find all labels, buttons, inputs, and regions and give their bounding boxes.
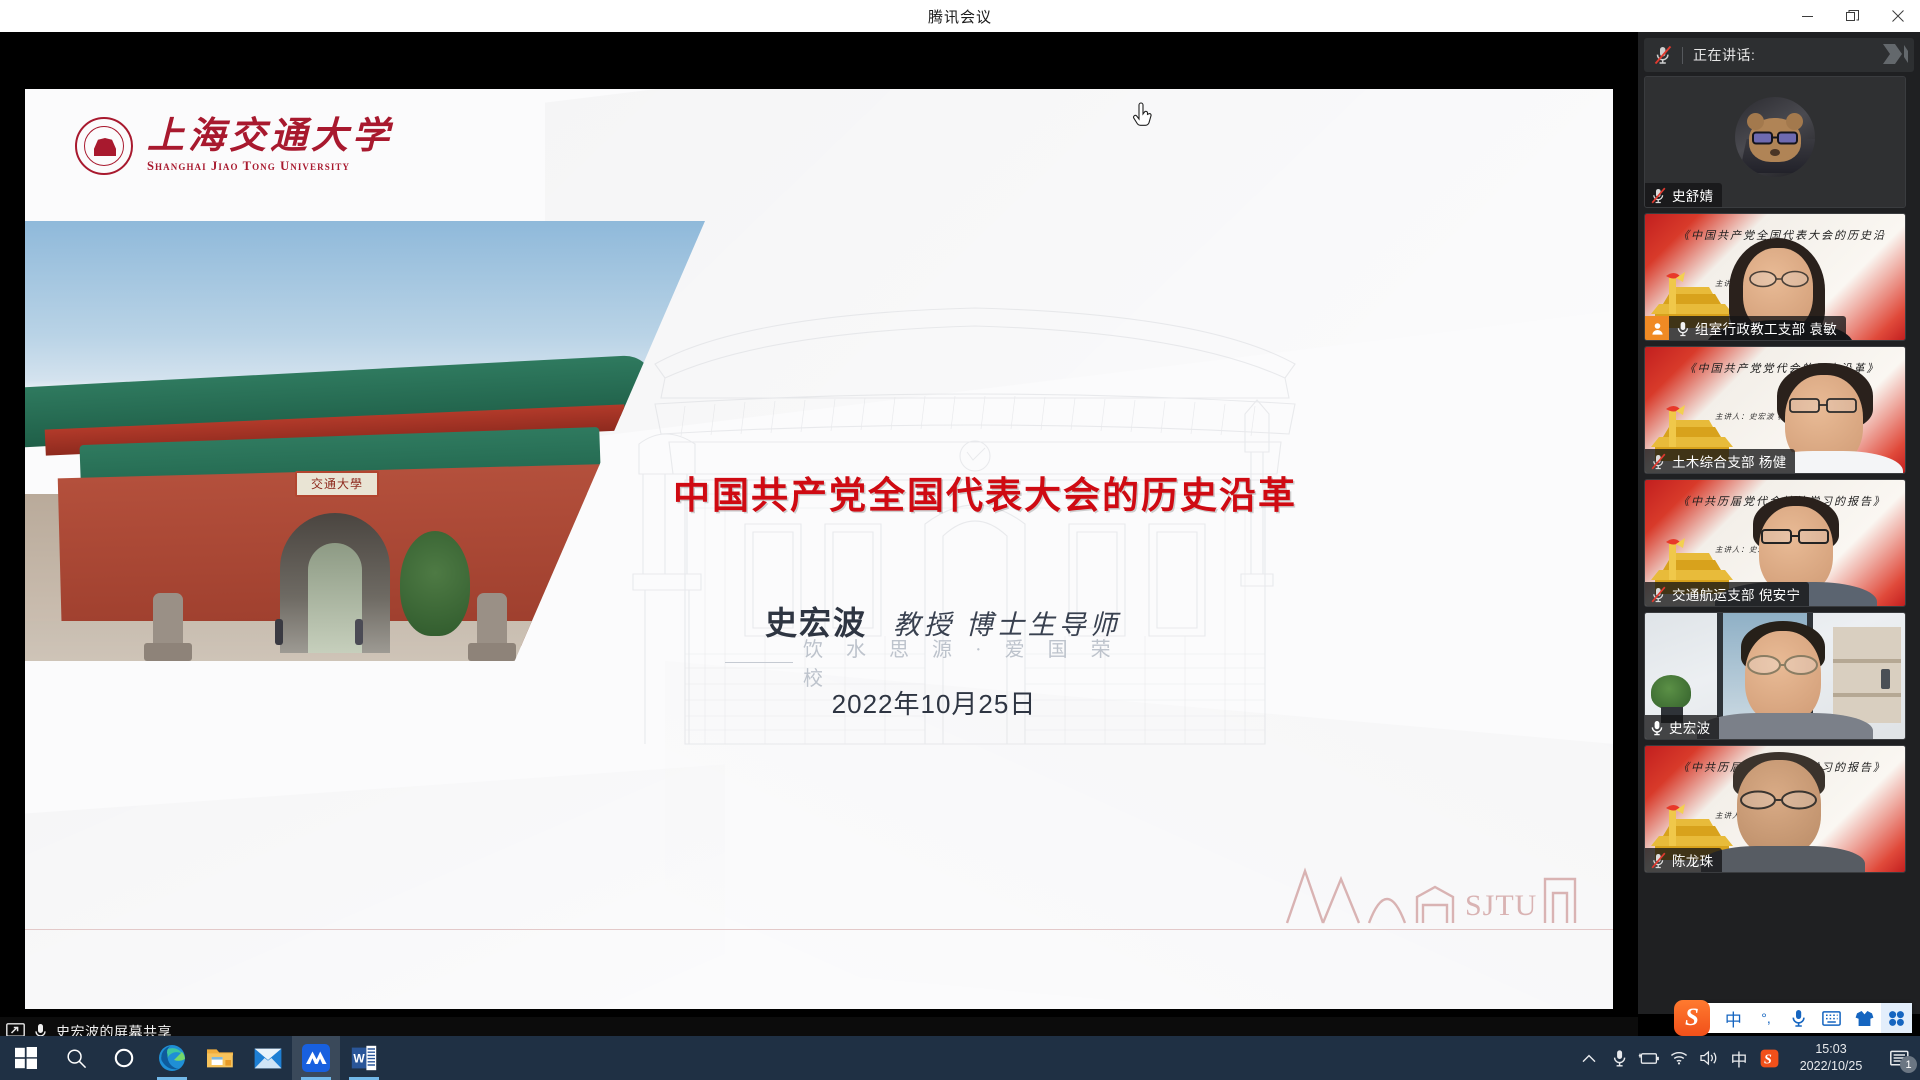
shared-screen-stage[interactable]: 上海交通大学 Shanghai Jiao Tong University [0, 32, 1638, 1014]
sjtu-footer-text: SJTU [1465, 889, 1537, 922]
cortana-button[interactable] [100, 1036, 148, 1080]
gate-archway-inner [308, 543, 362, 653]
sjtu-footer-logo: SJTU [1283, 849, 1583, 927]
participant-nameplate: 陈龙珠 [1645, 848, 1722, 872]
slide-footer-rule [25, 929, 1613, 930]
taskbar-mail[interactable] [244, 1036, 292, 1080]
shelf-object [1881, 669, 1890, 689]
now-speaking-label: 正在讲话: [1693, 45, 1755, 65]
glasses-icon [1739, 790, 1819, 810]
divider [1682, 47, 1683, 64]
university-name-cn: 上海交通大学 [147, 118, 393, 157]
teddy-ear [1786, 113, 1803, 130]
skin-shirt-icon[interactable] [1849, 1003, 1880, 1033]
volume-icon[interactable] [1694, 1036, 1724, 1080]
sjtu-seal-icon [75, 117, 133, 175]
maximize-button[interactable] [1830, 0, 1875, 32]
notification-center-button[interactable]: 1 [1880, 1036, 1920, 1080]
chinese-mode-icon[interactable]: 中 [1718, 1003, 1749, 1033]
minimize-button[interactable] [1785, 0, 1830, 32]
university-name-en: Shanghai Jiao Tong University [147, 159, 393, 174]
participant-tile[interactable]: 史宏波 [1644, 612, 1906, 740]
motto-rule [725, 662, 793, 663]
window-title-bar: 腾讯会议 [0, 0, 1920, 32]
sogou-s-logo[interactable]: S [1674, 1000, 1710, 1036]
mail-envelope-icon [254, 1048, 282, 1069]
microphone-icon[interactable] [1604, 1036, 1634, 1080]
sogou-ime-toolbar[interactable]: S 中 °, [1684, 1003, 1912, 1033]
clock-date: 2022/10/25 [1800, 1058, 1863, 1075]
stone-lion-left [153, 593, 183, 645]
glasses-icon [1761, 528, 1831, 546]
taskbar-tencent-meeting[interactable] [292, 1036, 340, 1080]
participant-tile[interactable]: 《中国共产党全国代表大会的历史沿革》 主讲人：史宏波 教授 [1644, 213, 1906, 341]
avatar [1735, 97, 1815, 177]
slide-facet-decor [25, 765, 725, 1009]
slide-date: 2022年10月25日 [25, 684, 1613, 721]
participant-tile[interactable]: 《中共历届党代会精神学习的报告》 主讲人：史宏波 教授 交通 [1644, 479, 1906, 607]
microphone-muted-icon [1651, 586, 1666, 603]
participant-nameplate: 交通航运支部 倪安宁 [1645, 582, 1809, 606]
participant-nameplate: 组室行政教工支部 袁敏 [1645, 316, 1846, 340]
gate-plaque: 交通大學 [295, 471, 379, 497]
participant-name: 土木综合支部 杨健 [1672, 451, 1786, 471]
microphone-muted-icon [1651, 852, 1666, 869]
search-button[interactable] [52, 1036, 100, 1080]
participant-nameplate: 土木综合支部 杨健 [1645, 449, 1795, 473]
stone-lion-right [477, 593, 507, 645]
shelf-board [1833, 693, 1901, 697]
glasses-icon [1789, 397, 1859, 415]
ime-language-indicator[interactable]: 中 [1724, 1036, 1754, 1080]
tencent-meeting-icon [302, 1044, 330, 1072]
system-tray[interactable]: 中 S 15:03 2022/10/25 1 [1574, 1036, 1920, 1080]
taskbar-edge[interactable] [148, 1036, 196, 1080]
window-title: 腾讯会议 [928, 6, 992, 27]
participant-tile[interactable]: 史舒婧 [1644, 76, 1906, 208]
host-badge-icon [1645, 316, 1669, 340]
svg-text:S: S [1764, 1052, 1772, 1067]
participant-tile[interactable]: 《中国共产党党代会的历史沿革》 主讲人：史宏波 教授 土木综 [1644, 346, 1906, 474]
soft-keyboard-icon[interactable] [1816, 1003, 1847, 1033]
shelf-board [1833, 659, 1901, 663]
person-face [1759, 506, 1833, 594]
tencent-meeting-logo [1880, 41, 1910, 67]
participant-name: 组室行政教工支部 袁敏 [1695, 318, 1837, 338]
wifi-icon[interactable] [1664, 1036, 1694, 1080]
taskbar-file-explorer[interactable] [196, 1036, 244, 1080]
glasses-icon [1748, 270, 1810, 288]
slide-title: 中国共产党全国代表大会的历史沿革 [673, 465, 1313, 519]
mouse-cursor [1131, 102, 1153, 130]
person-shirt [1701, 846, 1865, 873]
microphone-muted-icon [1651, 453, 1666, 470]
microphone-icon [1677, 320, 1689, 337]
campus-gate-photo: 交通大學 [25, 221, 705, 661]
notification-badge: 1 [1900, 1056, 1917, 1073]
participant-sidebar[interactable]: 正在讲话: [1638, 32, 1920, 1014]
show-hidden-icons-icon[interactable] [1574, 1036, 1604, 1080]
microphone-muted-icon [1651, 187, 1666, 204]
teddy-bear-avatar [1749, 118, 1801, 162]
participant-name: 交通航运支部 倪安宁 [1672, 584, 1800, 604]
university-motto: 饮 水 思 源 · 爱 国 荣 校 [725, 633, 1155, 691]
motto-text: 饮 水 思 源 · 爱 国 荣 校 [803, 633, 1155, 691]
close-button[interactable] [1875, 0, 1920, 32]
glasses-icon [1752, 131, 1798, 145]
now-speaking-bar: 正在讲话: [1644, 38, 1914, 72]
glasses-icon [1746, 655, 1820, 675]
bookshelf [1833, 627, 1901, 723]
word-document-icon: W [351, 1045, 377, 1071]
gate-tree [400, 531, 470, 636]
microphone-muted-icon [1654, 45, 1672, 65]
person-face [1745, 631, 1821, 723]
toolbox-grid-icon[interactable] [1881, 1003, 1912, 1033]
window-frame [1717, 613, 1723, 717]
participant-nameplate: 史宏波 [1645, 715, 1719, 739]
start-button[interactable] [0, 1036, 52, 1080]
participant-name: 史舒婧 [1672, 185, 1713, 205]
participant-tile-list[interactable]: 史舒婧 《中国共产党全国代表大会的历史沿革》 主讲人：史宏波 教授 [1638, 76, 1920, 1014]
participant-nameplate: 史舒婧 [1645, 183, 1722, 207]
folder-icon [206, 1046, 234, 1070]
svg-text:W: W [353, 1051, 365, 1065]
potted-plant [1651, 675, 1691, 709]
sjtu-logo: 上海交通大学 Shanghai Jiao Tong University [75, 117, 393, 175]
pedestrian [275, 619, 283, 645]
teddy-nose [1770, 149, 1780, 156]
window-controls [1785, 0, 1920, 32]
battery-charging-icon[interactable] [1634, 1036, 1664, 1080]
sogou-tray-icon[interactable]: S [1754, 1036, 1784, 1080]
participant-tile[interactable]: 《中共历届党代会精神学习的报告》 主讲人：史宏波 教授 陈龙 [1644, 745, 1906, 873]
clock-time: 15:03 [1815, 1041, 1846, 1058]
presentation-slide: 上海交通大学 Shanghai Jiao Tong University [25, 89, 1613, 1009]
taskbar-word[interactable]: W [340, 1036, 388, 1080]
pedestrian [355, 619, 363, 645]
microphone-icon [1651, 719, 1663, 736]
clock[interactable]: 15:03 2022/10/25 [1784, 1036, 1880, 1080]
cortana-circle-icon [114, 1048, 134, 1068]
voice-input-icon[interactable] [1783, 1003, 1814, 1033]
windows-taskbar[interactable]: W [0, 1036, 1920, 1080]
edge-browser-icon [158, 1044, 186, 1072]
teddy-ear [1747, 113, 1764, 130]
windows-logo-icon [15, 1047, 37, 1069]
participant-name: 陈龙珠 [1672, 850, 1713, 870]
search-icon [66, 1048, 87, 1069]
person-shirt [1697, 713, 1873, 740]
participant-name: 史宏波 [1669, 717, 1710, 737]
punctuation-mode-icon[interactable]: °, [1751, 1003, 1782, 1033]
